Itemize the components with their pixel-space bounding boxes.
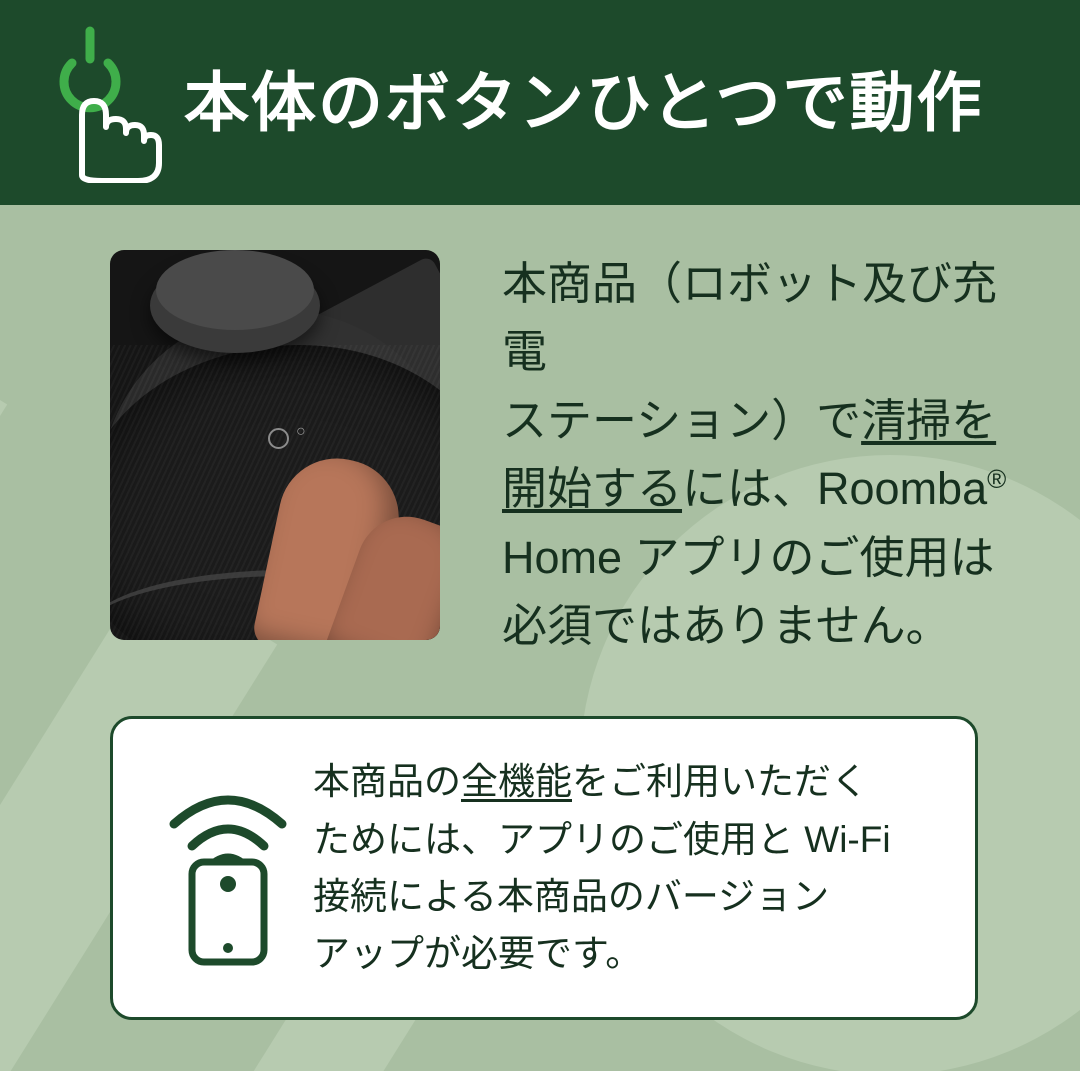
promo-page: 本体のボタンひとつで動作 ○ 本商品（ロボット及び充電 ステーション）で清掃を … bbox=[0, 0, 1080, 1071]
power-hand-icon bbox=[42, 23, 172, 183]
card-line-1-underline: 全機能 bbox=[461, 761, 572, 802]
paragraph-line-3: には、Roomba bbox=[682, 463, 987, 514]
robot-dustbin-lid bbox=[156, 250, 314, 330]
content-row: ○ 本商品（ロボット及び充電 ステーション）で清掃を 開始するには、Roomba… bbox=[0, 250, 1080, 660]
home-dock-icon bbox=[268, 428, 289, 449]
card-line-1-pre: 本商品の bbox=[313, 761, 461, 802]
clean-button-icon: ○ bbox=[296, 425, 310, 439]
card-line-1-post: をご利用いただく bbox=[572, 761, 868, 802]
paragraph-underline-1: 清掃を bbox=[861, 395, 996, 446]
paragraph-line-1: 本商品（ロボット及び充電 bbox=[502, 258, 997, 377]
page-title: 本体のボタンひとつで動作 bbox=[184, 70, 983, 135]
main-paragraph: 本商品（ロボット及び充電 ステーション）で清掃を 開始するには、Roomba® … bbox=[502, 250, 1022, 660]
card-line-4: アップが必要です。 bbox=[313, 933, 642, 974]
wifi-info-card: 本商品の全機能をご利用いただく ためには、アプリのご使用と Wi-Fi 接続によ… bbox=[110, 716, 978, 1020]
registered-mark: ® bbox=[987, 464, 1006, 494]
roomba-button-press-photo: ○ bbox=[110, 250, 440, 640]
paragraph-line-5: 必須ではありません。 bbox=[502, 600, 951, 651]
card-line-2: ためには、アプリのご使用と Wi-Fi bbox=[313, 819, 891, 860]
wifi-card-text: 本商品の全機能をご利用いただく ためには、アプリのご使用と Wi-Fi 接続によ… bbox=[313, 753, 953, 982]
card-line-3: 接続による本商品のバージョン bbox=[313, 876, 829, 917]
paragraph-line-2: ステーション）で bbox=[502, 395, 861, 446]
paragraph-underline-2: 開始する bbox=[502, 463, 682, 514]
header-banner: 本体のボタンひとつで動作 bbox=[0, 0, 1080, 205]
wifi-smartphone-icon bbox=[153, 770, 303, 966]
paragraph-line-4: Home アプリのご使用は bbox=[502, 532, 995, 583]
